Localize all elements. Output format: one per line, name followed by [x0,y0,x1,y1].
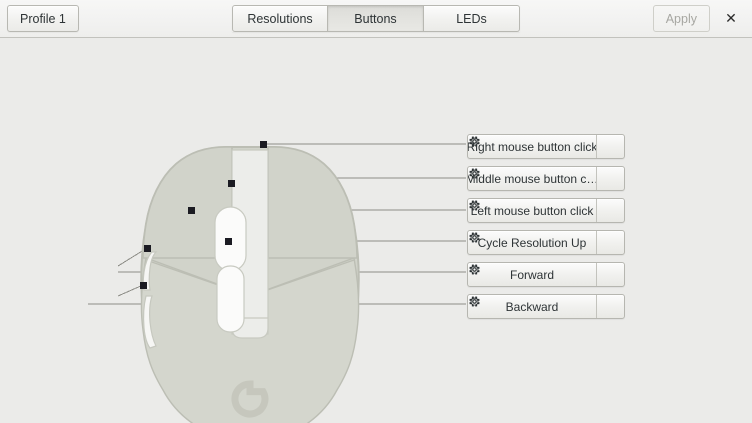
button-mapping-label: Backward [468,295,596,318]
apply-button[interactable]: Apply [653,5,710,32]
resolution-button [217,266,244,332]
button-mapping-backward[interactable]: Backward [467,294,625,319]
button-mapping-label: Middle mouse button c… [468,167,596,190]
header-right-group: Apply ✕ [653,5,744,32]
tab-buttons[interactable]: Buttons [328,5,424,32]
button-mapping-label: Cycle Resolution Up [468,231,596,254]
button-mapping-label: Left mouse button click [468,199,596,222]
gear-icon[interactable] [596,135,624,158]
marker-middle-click[interactable] [228,180,235,187]
button-mapping-label: Right mouse button click [468,135,596,158]
marker-backward[interactable] [140,282,147,289]
button-mapping-forward[interactable]: Forward [467,262,625,287]
marker-left-click[interactable] [188,207,195,214]
profile-selector-button[interactable]: Profile 1 [7,5,79,32]
device-canvas: Right mouse button click Middle mouse bu… [0,38,752,423]
button-mapping-label: Forward [468,263,596,286]
marker-cycle-resolution[interactable] [225,238,232,245]
marker-right-click[interactable] [260,141,267,148]
close-icon[interactable]: ✕ [718,6,744,32]
button-mapping-cycle-resolution[interactable]: Cycle Resolution Up [467,230,625,255]
tab-resolutions[interactable]: Resolutions [232,5,328,32]
leader-line-backward-a [118,285,143,296]
application-window: Profile 1 Resolutions Buttons LEDs Apply… [0,0,752,423]
gear-icon[interactable] [596,231,624,254]
mouse-diagram-svg [0,38,752,423]
button-mapping-right-click[interactable]: Right mouse button click [467,134,625,159]
gear-icon[interactable] [596,295,624,318]
right-click-panel [268,147,357,258]
button-mapping-middle-click[interactable]: Middle mouse button c… [467,166,625,191]
button-mapping-list: Right mouse button click Middle mouse bu… [467,134,625,326]
mouse-body [141,147,358,423]
gear-icon[interactable] [596,199,624,222]
header-left-group: Profile 1 [7,5,79,32]
marker-forward[interactable] [144,245,151,252]
header-bar: Profile 1 Resolutions Buttons LEDs Apply… [0,0,752,38]
tab-leds[interactable]: LEDs [424,5,520,32]
page-tab-group: Resolutions Buttons LEDs [232,5,520,32]
gear-icon[interactable] [596,167,624,190]
gear-icon[interactable] [596,263,624,286]
button-mapping-left-click[interactable]: Left mouse button click [467,198,625,223]
